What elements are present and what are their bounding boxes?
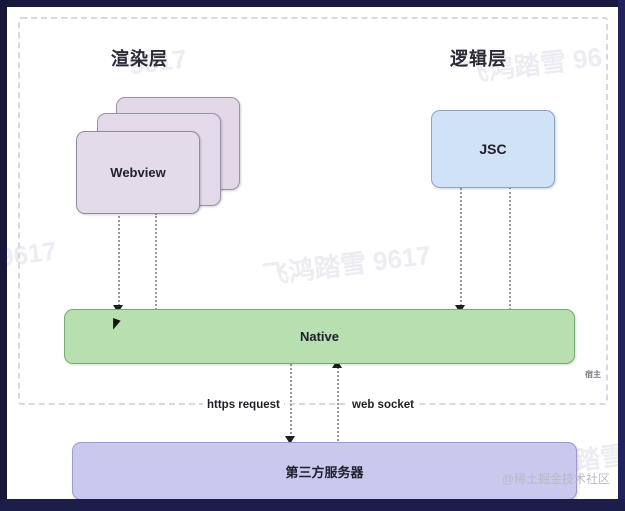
connector-native-to-server: [290, 361, 292, 441]
heading-render-layer: 渲染层: [111, 45, 168, 71]
frame-bottom: [0, 499, 625, 511]
edge-label-web-socket: web socket: [348, 399, 418, 411]
frame-top: [0, 0, 625, 7]
screenshot-root: 9617 飞鸿踏雪 96 9617 飞鸿踏雪 9617 飞鸿踏雪 96 9617…: [0, 0, 625, 511]
host-label: 宿主: [585, 369, 601, 380]
corner-watermark: @稀土掘金技术社区: [502, 470, 610, 487]
diagram-canvas: 9617 飞鸿踏雪 96 9617 飞鸿踏雪 9617 飞鸿踏雪 96 9617…: [7, 7, 618, 499]
heading-logic-layer: 逻辑层: [450, 45, 507, 71]
native-node[interactable]: Native: [64, 309, 575, 364]
connector-server-to-native: [337, 367, 339, 441]
frame-left: [0, 0, 7, 511]
jsc-node[interactable]: JSC: [431, 110, 555, 188]
connector-native-to-jsc: [509, 187, 511, 310]
connector-native-to-webview: [155, 213, 157, 310]
frame-right: [618, 0, 625, 511]
webview-node[interactable]: Webview: [76, 131, 200, 214]
edge-label-https-request: https request: [203, 399, 284, 411]
connector-jsc-to-native: [460, 181, 462, 310]
connector-webview-to-native: [118, 207, 120, 310]
